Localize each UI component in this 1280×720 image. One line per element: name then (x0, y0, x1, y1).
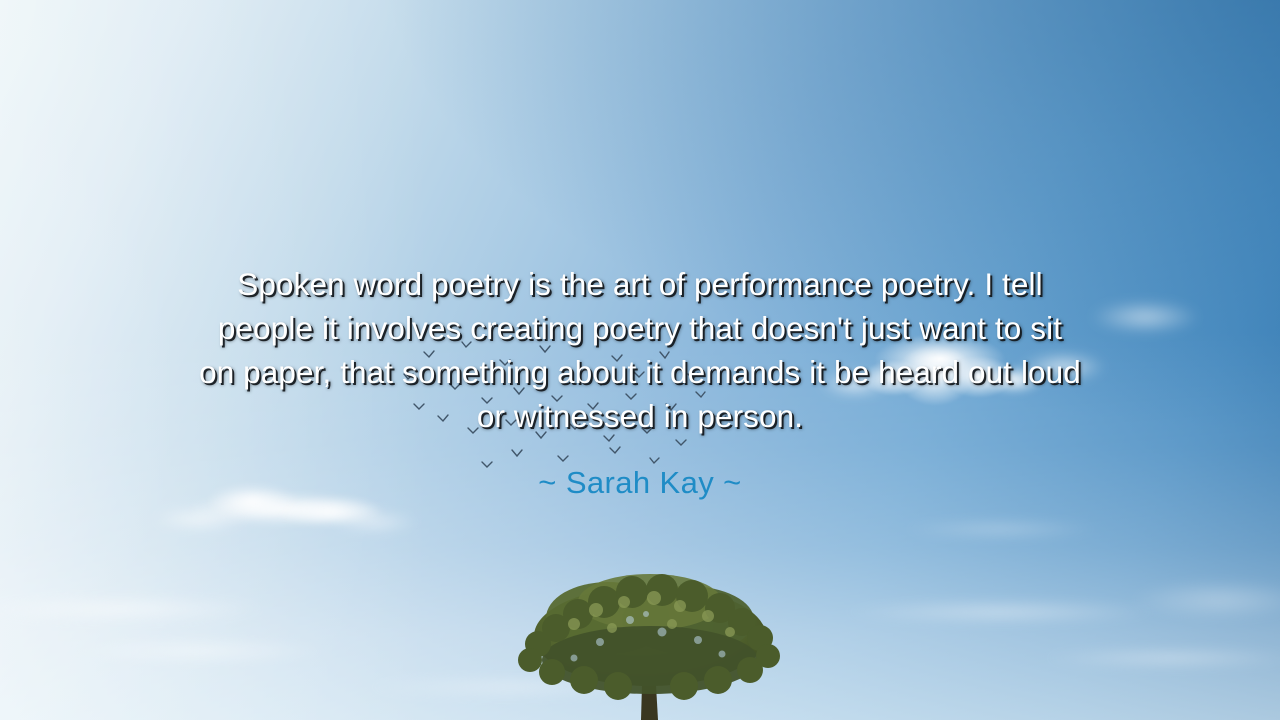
quote-attribution: ~ Sarah Kay ~ (0, 464, 1280, 502)
quote-image-canvas: Spoken word poetry is the art of perform… (0, 0, 1280, 720)
tree-canopy (518, 574, 780, 700)
tree-icon (512, 562, 792, 720)
quote-text: Spoken word poetry is the art of perform… (105, 262, 1175, 438)
quote-block: Spoken word poetry is the art of perform… (0, 262, 1280, 502)
